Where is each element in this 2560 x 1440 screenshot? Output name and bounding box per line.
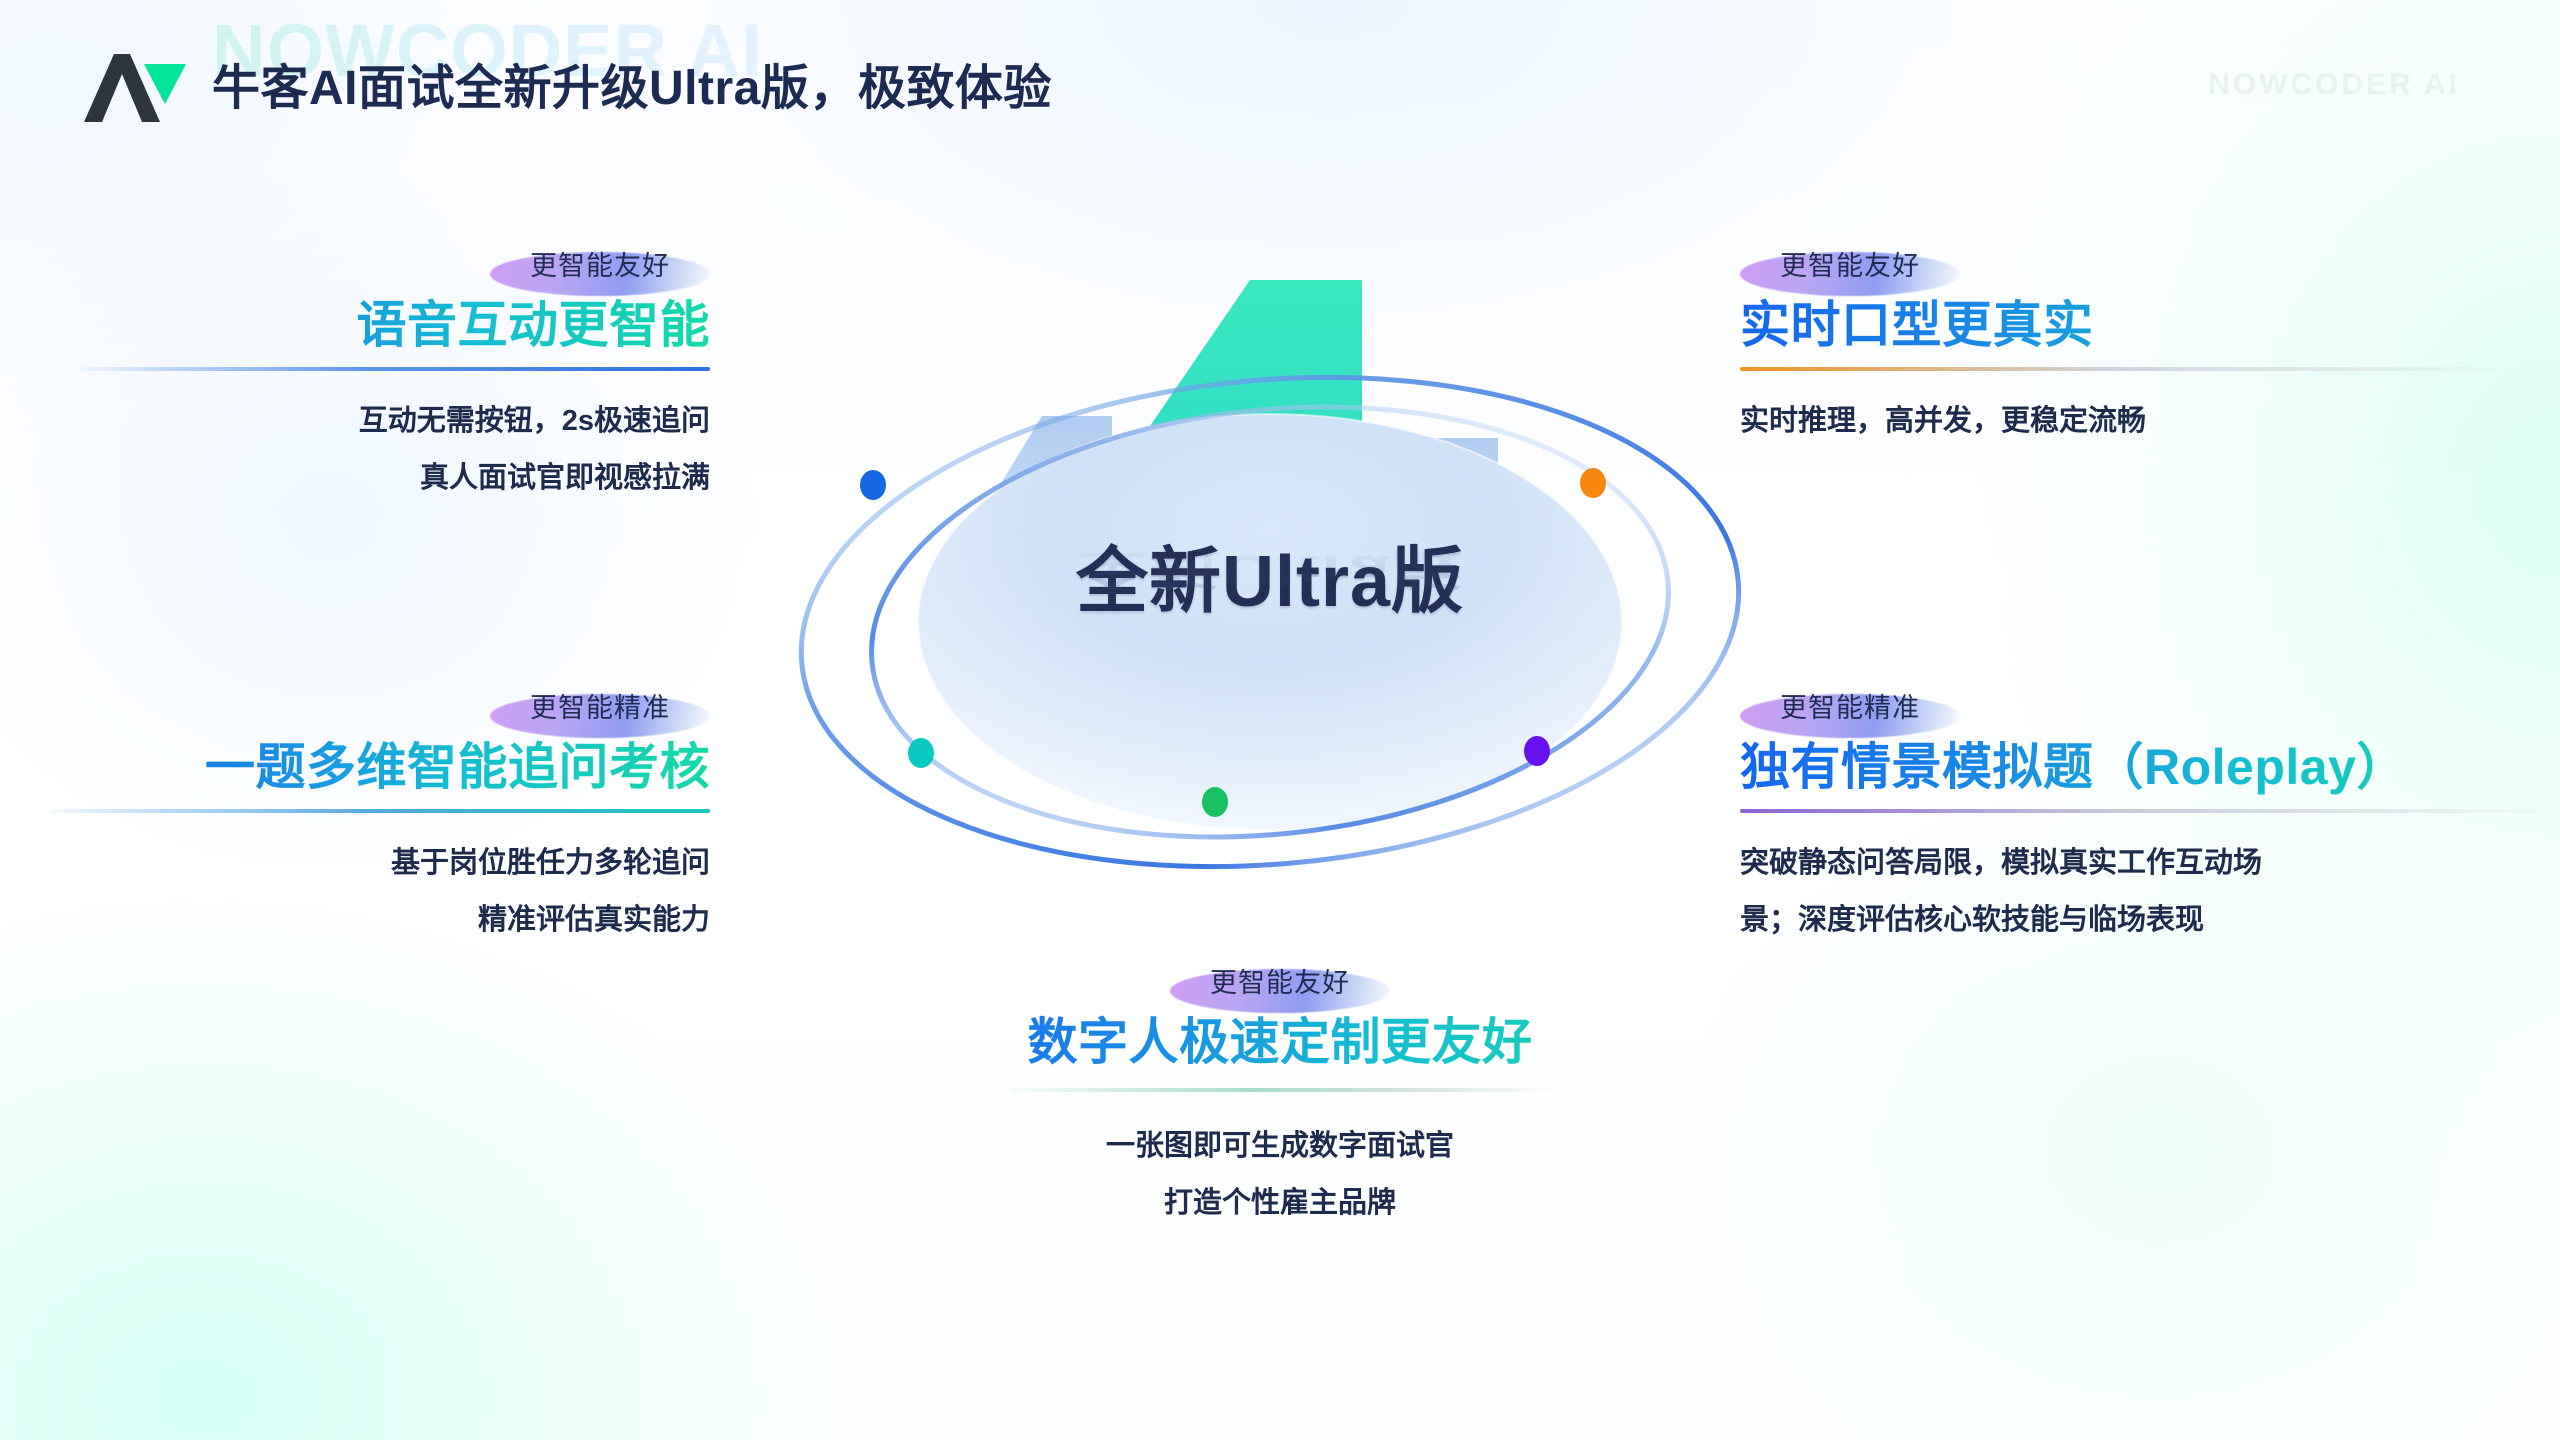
slide-header: NOWCODER AI NOWCODER AI 牛客AI面试全新升级Ultra版… xyxy=(0,0,2560,170)
feature-body-line-2: 景；深度评估核心软技能与临场表现 xyxy=(1740,892,2540,949)
badge-label: 更智能友好 xyxy=(530,244,670,283)
orbit-dot-orange xyxy=(1580,468,1606,498)
center-graphic: 全新Ultra版 全新Ultra版 xyxy=(760,230,1780,890)
feature-multi-dimension-probing: 更智能精准 一题多维智能追问考核 基于岗位胜任力多轮追问 精准评估真实能力 xyxy=(50,680,710,948)
orbit-dot-purple xyxy=(1524,736,1550,766)
feature-digital-human: 更智能友好 数字人极速定制更友好 一张图即可生成数字面试官 打造个性雇主品牌 xyxy=(880,955,1680,1231)
orbit-dot-green xyxy=(1202,787,1228,817)
badge-label: 更智能友好 xyxy=(1780,244,1920,283)
badge-label: 更智能精准 xyxy=(530,686,670,725)
feature-rule xyxy=(1740,367,2500,371)
feature-heading: 实时口型更真实 xyxy=(1740,293,2500,357)
orbit-dot-blue xyxy=(860,470,886,500)
feature-body-line-1: 实时推理，高并发，更稳定流畅 xyxy=(1740,393,2500,450)
header-watermark-secondary: NOWCODER AI xyxy=(2208,68,2460,102)
orbit-dot-teal xyxy=(908,738,934,768)
page-title: 牛客AI面试全新升级Ultra版，极致体验 xyxy=(212,48,1052,118)
feature-body-line-1: 互动无需按钮，2s极速追问 xyxy=(80,393,710,450)
feature-voice-interaction: 更智能友好 语音互动更智能 互动无需按钮，2s极速追问 真人面试官即视感拉满 xyxy=(80,238,710,506)
feature-rule xyxy=(50,809,710,813)
feature-lip-sync: 更智能友好 实时口型更真实 实时推理，高并发，更稳定流畅 xyxy=(1740,238,2500,450)
feature-heading: 独有情景模拟题（Roleplay） xyxy=(1740,735,2540,799)
badge-label: 更智能友好 xyxy=(1210,961,1350,1000)
feature-rule xyxy=(80,367,710,371)
feature-badge: 更智能精准 xyxy=(490,680,710,735)
slide-root: NOWCODER AI NOWCODER AI 牛客AI面试全新升级Ultra版… xyxy=(0,0,2560,1440)
feature-rule xyxy=(1010,1088,1550,1092)
feature-body-line-1: 基于岗位胜任力多轮追问 xyxy=(50,835,710,892)
badge-label: 更智能精准 xyxy=(1780,686,1920,725)
feature-body-line-2: 真人面试官即视感拉满 xyxy=(80,450,710,507)
feature-body-line-1: 突破静态问答局限，模拟真实工作互动场 xyxy=(1740,835,2540,892)
feature-rule xyxy=(1740,809,2540,813)
core-label: 全新Ultra版 xyxy=(760,522,1780,627)
feature-heading: 数字人极速定制更友好 xyxy=(880,1010,1680,1074)
feature-body-line-2: 打造个性雇主品牌 xyxy=(880,1175,1680,1232)
feature-heading: 语音互动更智能 xyxy=(80,293,710,357)
feature-heading: 一题多维智能追问考核 xyxy=(50,735,710,799)
feature-body-line-1: 一张图即可生成数字面试官 xyxy=(880,1118,1680,1175)
feature-badge: 更智能友好 xyxy=(490,238,710,293)
feature-body-line-2: 精准评估真实能力 xyxy=(50,892,710,949)
feature-badge: 更智能友好 xyxy=(1170,955,1390,1010)
feature-roleplay: 更智能精准 独有情景模拟题（Roleplay） 突破静态问答局限，模拟真实工作互… xyxy=(1740,680,2540,948)
nowcoder-logo xyxy=(78,48,190,126)
